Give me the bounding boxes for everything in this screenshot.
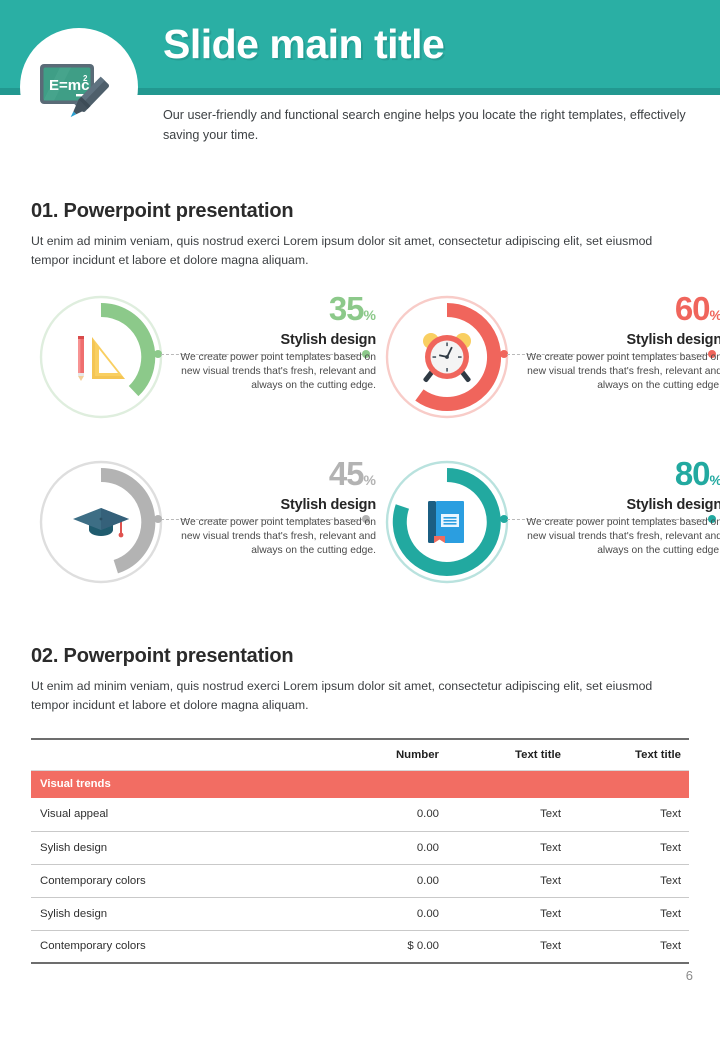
table-header-cell-1: Number — [331, 739, 461, 770]
table-cell-text-1: Text — [461, 897, 581, 930]
table-row[interactable]: Contemporary colors 0.00 Text Text — [31, 864, 689, 897]
percent-symbol: % — [364, 472, 376, 488]
data-table: Number Text title Text title Visual tren… — [31, 738, 689, 964]
table-header-cell-3: Text title — [581, 739, 689, 770]
alarm-clock-icon — [413, 323, 481, 391]
stat-heading-60: Stylish design — [508, 332, 720, 348]
stat-percent-45: 45% — [162, 457, 376, 490]
stat-heading-80: Stylish design — [508, 497, 720, 513]
table-header-cell-2: Text title — [461, 739, 581, 770]
stat-body-80: We create power point templates based on… — [508, 516, 720, 558]
chalkboard-pencil-icon: E=mc 2 — [38, 58, 122, 130]
table-cell-number: 0.00 — [331, 831, 461, 864]
graduation-cap-icon — [67, 488, 135, 556]
stat-block-35[interactable]: 35% Stylish design We create power point… — [36, 292, 376, 452]
table-cell-label: Sylish design — [31, 831, 331, 864]
table-row[interactable]: Sylish design 0.00 Text Text — [31, 897, 689, 930]
stat-heading-45: Stylish design — [162, 497, 376, 513]
table-header-cell-0 — [31, 739, 331, 770]
table-header-row: Number Text title Text title — [31, 739, 689, 770]
stat-text-35: 35% Stylish design We create power point… — [162, 292, 376, 393]
table-cell-text-1: Text — [461, 798, 581, 831]
table-row[interactable]: Contemporary colors $ 0.00 Text Text — [31, 930, 689, 963]
table-cell-text-1: Text — [461, 864, 581, 897]
table-cell-label: Visual appeal — [31, 798, 331, 831]
stat-block-80[interactable]: 80% Stylish design We create power point… — [382, 457, 720, 617]
stat-block-45[interactable]: 45% Stylish design We create power point… — [36, 457, 376, 617]
table-group-label: Visual trends — [31, 770, 689, 798]
table-cell-number: 0.00 — [331, 897, 461, 930]
stat-heading-35: Stylish design — [162, 332, 376, 348]
table-row[interactable]: Visual appeal 0.00 Text Text — [31, 798, 689, 831]
table-cell-text-2: Text — [581, 798, 689, 831]
percent-symbol: % — [710, 472, 720, 488]
stat-text-80: 80% Stylish design We create power point… — [508, 457, 720, 558]
stat-body-60: We create power point templates based on… — [508, 351, 720, 393]
stat-percent-value: 60 — [675, 290, 710, 327]
table-cell-text-2: Text — [581, 930, 689, 963]
table-cell-label: Contemporary colors — [31, 864, 331, 897]
table-cell-label: Contemporary colors — [31, 930, 331, 963]
table-cell-text-1: Text — [461, 831, 581, 864]
stat-percent-35: 35% — [162, 292, 376, 325]
page-number: 6 — [686, 968, 693, 983]
stat-percent-value: 80 — [675, 455, 710, 492]
stat-percent-value: 35 — [329, 290, 364, 327]
header-subtitle: Our user-friendly and functional search … — [163, 106, 693, 145]
page-title: Slide main title — [163, 21, 444, 68]
table-body: Visual trends Visual appeal 0.00 Text Te… — [31, 770, 689, 963]
stat-text-45: 45% Stylish design We create power point… — [162, 457, 376, 558]
section-one-body: Ut enim ad minim veniam, quis nostrud ex… — [31, 232, 691, 270]
table-cell-number: 0.00 — [331, 798, 461, 831]
table-cell-label: Sylish design — [31, 897, 331, 930]
table-cell-text-2: Text — [581, 831, 689, 864]
table-cell-number: $ 0.00 — [331, 930, 461, 963]
slide-canvas: E=mc 2 Slide main title Our user-friendl… — [0, 0, 720, 1040]
stat-text-60: 60% Stylish design We create power point… — [508, 292, 720, 393]
stat-block-60[interactable]: 60% Stylish design We create power point… — [382, 292, 720, 452]
svg-text:2: 2 — [83, 74, 88, 83]
stat-body-35: We create power point templates based on… — [162, 351, 376, 393]
stat-percent-80: 80% — [508, 457, 720, 490]
section-two-title: 02. Powerpoint presentation — [31, 645, 293, 668]
table-header: Number Text title Text title — [31, 739, 689, 770]
stat-body-45: We create power point templates based on… — [162, 516, 376, 558]
triangle-ruler-pencil-icon — [67, 323, 135, 391]
table-row[interactable]: Sylish design 0.00 Text Text — [31, 831, 689, 864]
table-cell-text-1: Text — [461, 930, 581, 963]
book-icon — [413, 488, 481, 556]
percent-symbol: % — [364, 307, 376, 323]
section-one-title: 01. Powerpoint presentation — [31, 200, 293, 223]
percent-symbol: % — [710, 307, 720, 323]
table-group-row: Visual trends — [31, 770, 689, 798]
stat-percent-value: 45 — [329, 455, 364, 492]
table-cell-text-2: Text — [581, 864, 689, 897]
section-two-body: Ut enim ad minim veniam, quis nostrud ex… — [31, 677, 691, 715]
table-cell-number: 0.00 — [331, 864, 461, 897]
table-cell-text-2: Text — [581, 897, 689, 930]
stat-percent-60: 60% — [508, 292, 720, 325]
